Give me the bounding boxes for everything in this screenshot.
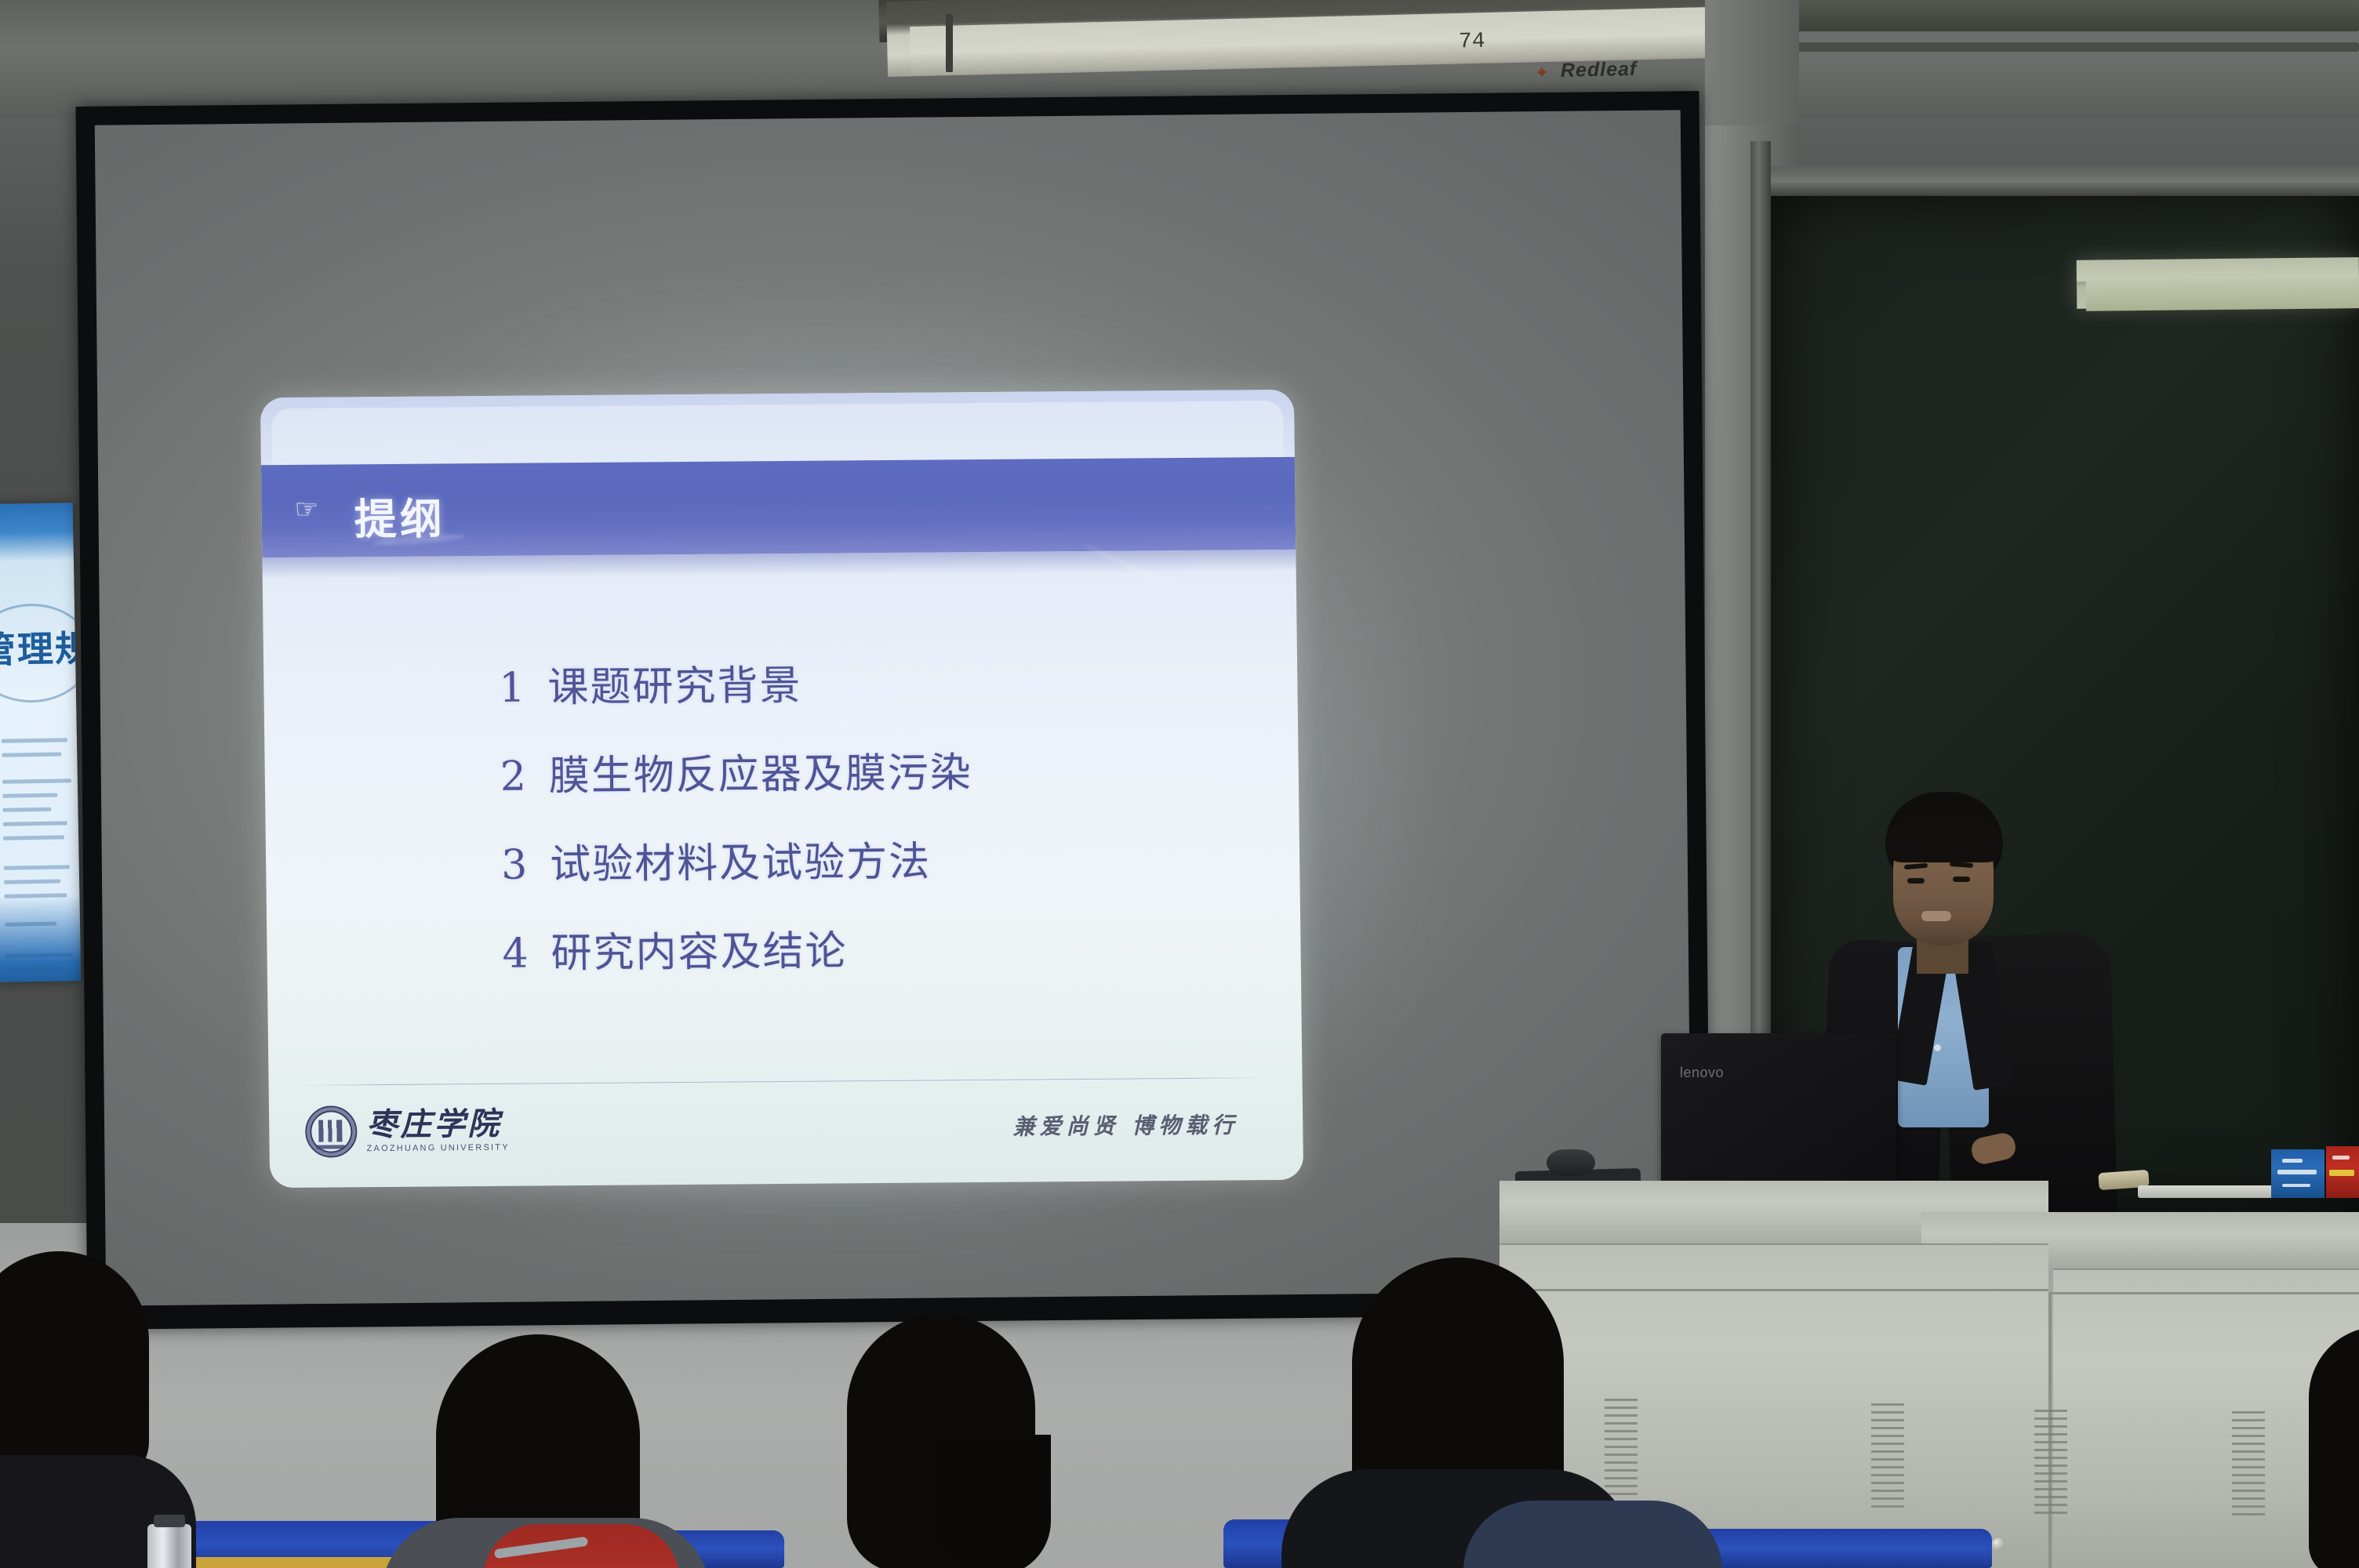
audience-shoulders xyxy=(1463,1501,1722,1568)
cabinet-vent xyxy=(2034,1410,2067,1516)
ceiling-hook-left xyxy=(946,14,953,72)
poster-text-line xyxy=(5,922,56,927)
fluorescent-light-tube xyxy=(2086,277,2359,311)
list-item-number: 2 xyxy=(500,753,549,800)
list-item: 4 研究内容及结论 xyxy=(502,916,975,979)
list-item: 2 膜生物反应器及膜污染 xyxy=(500,739,972,802)
cabinet-vent xyxy=(1871,1403,1904,1510)
list-item: 3 试验材料及试验方法 xyxy=(501,828,974,891)
poster-text-line xyxy=(2,793,57,798)
university-seal-icon xyxy=(305,1105,358,1158)
slide-footer-divider xyxy=(302,1077,1267,1086)
presenter-eye-right xyxy=(1953,877,1970,882)
presenter-hair-front xyxy=(1887,814,2001,862)
computer-mouse xyxy=(1547,1149,1595,1176)
water-bottle xyxy=(147,1524,191,1568)
ceiling-pipe xyxy=(1749,0,2359,31)
classroom-presentation-photo: 74 ✦ Redleaf 管理规 ☞ xyxy=(0,0,2359,1568)
poster-text-line xyxy=(5,953,73,958)
list-item-number: 3 xyxy=(501,841,551,888)
poster-text-line xyxy=(4,893,67,898)
poster-text-line xyxy=(4,865,70,869)
cabinet-seam xyxy=(1499,1289,2048,1291)
redleaf-star-icon: ✦ xyxy=(1535,63,1550,83)
slide-top-strip xyxy=(260,390,1295,465)
presentation-slide: ☞ 提纲 1 课题研究背景 2 膜生物反应器及膜污染 3 试验材料及试验方法 4… xyxy=(260,390,1303,1188)
cabinet-knob xyxy=(1992,1538,2005,1551)
chalk-box-red xyxy=(2326,1146,2359,1198)
audience-hair-fall xyxy=(933,1435,1051,1568)
laptop xyxy=(1661,1033,1896,1200)
university-name-cn: 枣庄学院 xyxy=(366,1109,510,1141)
presenter-mouth xyxy=(1921,911,1951,921)
laptop-brand-label: lenovo xyxy=(1680,1065,1724,1081)
list-item-label: 研究内容及结论 xyxy=(551,917,848,978)
cabinet-vent xyxy=(1605,1399,1637,1505)
slide-outline-list: 1 课题研究背景 2 膜生物反应器及膜污染 3 试验材料及试验方法 4 研究内容… xyxy=(499,651,976,1009)
list-item-label: 试验材料及试验方法 xyxy=(550,829,932,891)
poster-text-line xyxy=(2,779,71,784)
cabinet-vent xyxy=(2232,1411,2265,1518)
projector-brand-label: Redleaf xyxy=(1561,58,1637,82)
cabinet-seam xyxy=(2050,1292,2359,1294)
audience-head xyxy=(0,1251,149,1486)
poster-title: 管理规 xyxy=(0,620,81,674)
list-item-label: 膜生物反应器及膜污染 xyxy=(548,739,972,801)
housing-marking: 74 xyxy=(1459,30,1485,55)
chalk-tray xyxy=(2138,1185,2279,1198)
university-motto: 兼爱尚贤 博物载行 xyxy=(1012,1108,1238,1141)
poster-text-line xyxy=(4,879,60,884)
list-item-number: 1 xyxy=(499,664,548,711)
list-item-number: 4 xyxy=(502,930,551,977)
poster-text-line xyxy=(2,808,51,812)
university-name-en: ZAOZHUANG UNIVERSITY xyxy=(366,1143,509,1153)
university-logo: 枣庄学院 ZAOZHUANG UNIVERSITY xyxy=(305,1105,510,1158)
wall-poster: 管理规 xyxy=(0,503,81,982)
ceiling-conduit xyxy=(1796,42,2359,52)
presenter-eye-left xyxy=(1907,878,1925,884)
poster-text-line xyxy=(5,967,64,971)
poster-text-line xyxy=(2,752,61,757)
chalk-box-blue xyxy=(2271,1149,2324,1198)
blackboard-top-rail xyxy=(1771,166,2359,196)
poster-text-line xyxy=(3,835,64,840)
shirt-button xyxy=(1934,1044,1941,1051)
pointing-hand-icon: ☞ xyxy=(294,496,318,523)
list-item-label: 课题研究背景 xyxy=(547,652,802,713)
poster-text-line xyxy=(2,738,67,742)
poster-text-line xyxy=(3,821,67,826)
